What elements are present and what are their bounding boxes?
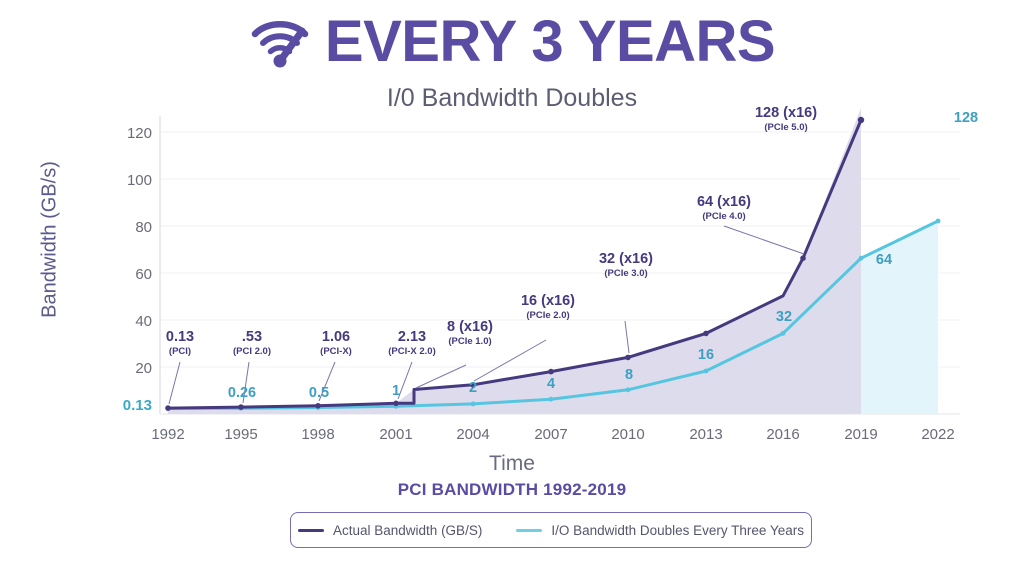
annotation-value: 64 (x16) — [678, 195, 770, 211]
annotation-spec: (PCIe 3.0) — [580, 268, 672, 279]
x-tick-2019: 2019 — [826, 426, 896, 443]
annotation-spec: (PCIe 2.0) — [502, 310, 594, 321]
legend-swatch-icon — [298, 529, 324, 532]
x-tick-2007: 2007 — [516, 426, 586, 443]
doubling-label-8: 8 — [611, 367, 647, 383]
annotation-value: 1.06 — [298, 330, 374, 346]
annotation-spec: (PCIe 1.0) — [428, 336, 512, 347]
annotation-pcie-1: 8 (x16) (PCIe 1.0) — [428, 320, 512, 347]
chart-svg — [0, 108, 1024, 438]
legend-swatch-icon — [516, 529, 542, 532]
annotation-pci-2: .53 (PCI 2.0) — [212, 330, 292, 357]
annotation-value: 8 (x16) — [428, 320, 512, 336]
x-tick-2010: 2010 — [593, 426, 663, 443]
annotation-pcie-4: 64 (x16) (PCIe 4.0) — [678, 195, 770, 222]
doubling-label-32: 32 — [766, 309, 802, 325]
legend-label: Actual Bandwidth (GB/S) — [333, 523, 482, 538]
doubling-label-0-5: 0.5 — [295, 385, 343, 401]
x-axis-ticks: 1992 1995 1998 2001 2004 2007 2010 2013 … — [0, 426, 1024, 454]
annotation-value: 16 (x16) — [502, 294, 594, 310]
annotation-spec: (PCI-X) — [298, 346, 374, 357]
legend-label: I/O Bandwidth Doubles Every Three Years — [551, 523, 804, 538]
chart-legend: Actual Bandwidth (GB/S) I/O Bandwidth Do… — [290, 512, 812, 548]
x-tick-2022: 2022 — [903, 426, 973, 443]
legend-item-doubling[interactable]: I/O Bandwidth Doubles Every Three Years — [516, 523, 804, 538]
annotation-pcie-2: 16 (x16) (PCIe 2.0) — [502, 294, 594, 321]
page-title: EVERY 3 YEARS — [325, 13, 775, 71]
legend-item-actual[interactable]: Actual Bandwidth (GB/S) — [298, 523, 482, 538]
infographic-root: EVERY 3 YEARS I/0 Bandwidth Doubles Band… — [0, 0, 1024, 568]
annotation-spec: (PCI) — [144, 346, 216, 357]
annotation-spec: (PCIe 4.0) — [678, 211, 770, 222]
annotation-value: 0.13 — [144, 330, 216, 346]
annotation-value: .53 — [212, 330, 292, 346]
wifi-icon — [249, 14, 311, 70]
annotation-spec: (PCIe 5.0) — [736, 122, 836, 133]
x-tick-1995: 1995 — [206, 426, 276, 443]
chart-plot-area: Bandwidth (GB/s) 120 100 80 60 40 20 0.1… — [0, 108, 1024, 438]
annotation-pcie-3: 32 (x16) (PCIe 3.0) — [580, 252, 672, 279]
annotation-pci: 0.13 (PCI) — [144, 330, 216, 357]
doubling-label-1: 1 — [378, 383, 414, 399]
doubling-label-128: 128 — [944, 110, 988, 126]
x-tick-2004: 2004 — [438, 426, 508, 443]
actual-area-fill — [168, 108, 861, 414]
doubling-label-4: 4 — [533, 376, 569, 392]
x-tick-2013: 2013 — [671, 426, 741, 443]
annotation-spec: (PCI 2.0) — [212, 346, 292, 357]
doubling-label-64: 64 — [866, 252, 902, 268]
annotation-value: 128 (x16) — [736, 106, 836, 122]
annotation-spec: (PCI-X 2.0) — [368, 346, 456, 357]
annotation-pcie-5: 128 (x16) (PCIe 5.0) — [736, 106, 836, 133]
x-tick-2016: 2016 — [748, 426, 818, 443]
x-tick-1998: 1998 — [283, 426, 353, 443]
doubling-label-2: 2 — [455, 380, 491, 396]
title-row: EVERY 3 YEARS — [0, 6, 1024, 78]
chart-caption: PCI BANDWIDTH 1992-2019 — [0, 480, 1024, 500]
x-axis-title: Time — [0, 452, 1024, 476]
annotation-value: 32 (x16) — [580, 252, 672, 268]
x-tick-2001: 2001 — [361, 426, 431, 443]
x-tick-1992: 1992 — [133, 426, 203, 443]
doubling-label-16: 16 — [688, 347, 724, 363]
annotation-pci-x: 1.06 (PCI-X) — [298, 330, 374, 357]
doubling-label-0-26: 0.26 — [215, 385, 269, 401]
header: EVERY 3 YEARS I/0 Bandwidth Doubles — [0, 6, 1024, 113]
